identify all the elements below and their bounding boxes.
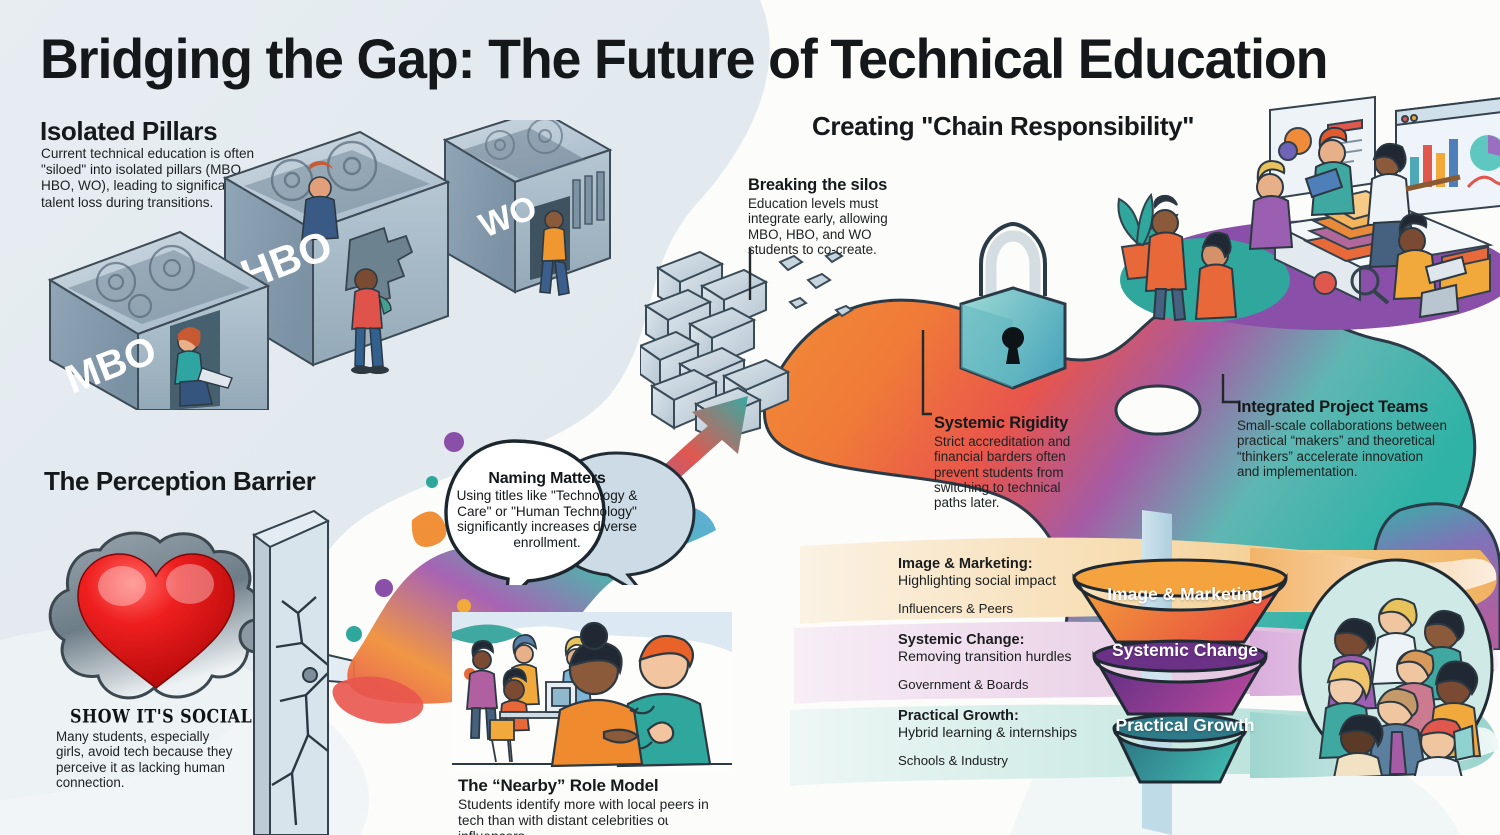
infographic-canvas: Bridging the Gap: The Future of Technica… xyxy=(0,0,1500,835)
band-heading-image-marketing: Image & Marketing: xyxy=(898,556,1056,572)
nearby-role-model-title: The “Nearby” Role Model xyxy=(458,776,738,796)
section-heading-perception-barrier: The Perception Barrier xyxy=(44,466,316,497)
nearby-role-model-illustration xyxy=(452,612,732,772)
band-tag-systemic-change: Government & Boards xyxy=(898,677,1072,692)
leader-line-breaking-silos xyxy=(744,246,758,304)
naming-matters-block: Naming Matters Using titles like "Techno… xyxy=(452,470,642,550)
nearby-role-model-block: The “Nearby” Role Model Students identif… xyxy=(458,776,738,835)
breaking-silos-body: Education levels must integrate early, a… xyxy=(748,196,908,257)
band-sub-image-marketing: Highlighting social impact xyxy=(898,572,1056,588)
funnel-cones xyxy=(1060,530,1310,805)
integrated-project-teams-title: Integrated Project Teams xyxy=(1237,398,1447,417)
diverse-students-circle xyxy=(1296,556,1496,776)
naming-matters-body: Using titles like "Technology & Care" or… xyxy=(452,488,642,550)
cube-wo: WO xyxy=(445,120,610,295)
band-sub-practical-growth: Hybrid learning & internships xyxy=(898,724,1077,740)
systemic-rigidity-title: Systemic Rigidity xyxy=(934,414,1094,433)
systemic-rigidity-block: Systemic Rigidity Strict accreditation a… xyxy=(934,414,1094,510)
breaking-silos-block: Breakingthe silos Education levels must … xyxy=(748,176,908,257)
leader-line-systemic-rigidity xyxy=(918,330,936,422)
page-title: Bridging the Gap: The Future of Technica… xyxy=(40,26,1327,91)
band-tag-image-marketing: Influencers & Peers xyxy=(898,601,1056,616)
funnel-label-systemic-change: Systemic Change xyxy=(1085,640,1285,660)
integrated-project-teams-body: Small-scale collaborations between pract… xyxy=(1237,418,1447,479)
funnel-band-text-practical-growth: Practical Growth: Hybrid learning & inte… xyxy=(898,708,1077,768)
show-its-social-title: SHOW IT'S SOCIAL xyxy=(70,706,252,728)
integrated-project-teams-illustration xyxy=(1110,95,1500,330)
nearby-role-model-body: Students identify more with local peers … xyxy=(458,797,738,835)
funnel-label-image-marketing: Image & Marketing xyxy=(1060,584,1310,604)
show-its-social-body: Many students, especially girls, avoid t… xyxy=(56,729,238,790)
funnel-band-text-image-marketing: Image & Marketing: Highlighting social i… xyxy=(898,556,1056,616)
band-heading-systemic-change: Systemic Change: xyxy=(898,632,1072,648)
band-heading-practical-growth: Practical Growth: xyxy=(898,708,1077,724)
integrated-project-teams-block: Integrated Project Teams Small-scale col… xyxy=(1237,398,1447,479)
padlock-icon xyxy=(947,218,1077,408)
breaking-silos-title: Breakingthe silos xyxy=(748,176,908,195)
band-tag-practical-growth: Schools & Industry xyxy=(898,753,1077,768)
isolated-pillars-cubes: WO xyxy=(30,120,640,410)
funnel-band-text-systemic-change: Systemic Change: Removing transition hur… xyxy=(898,632,1072,692)
funnel-label-practical-growth: Practical Growth xyxy=(1095,715,1275,735)
band-sub-systemic-change: Removing transition hurdles xyxy=(898,648,1072,664)
systemic-rigidity-body: Strict accreditation and financial barde… xyxy=(934,434,1094,510)
naming-matters-title: Naming Matters xyxy=(452,470,642,488)
